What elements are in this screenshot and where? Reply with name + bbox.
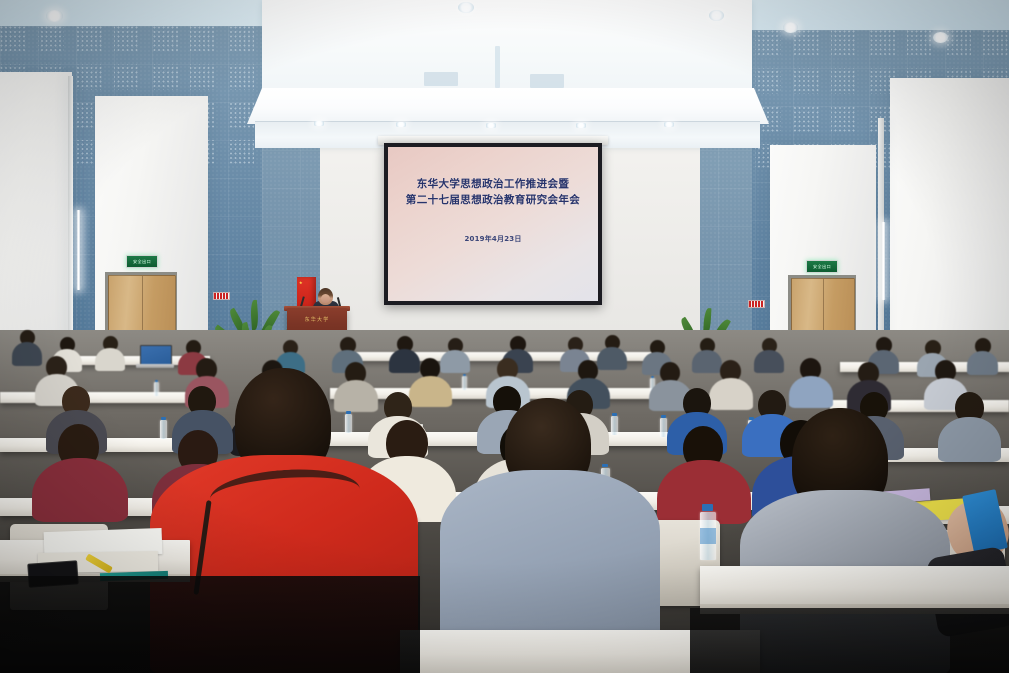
downlight-5 bbox=[933, 32, 948, 43]
ceiling-vent-a bbox=[424, 72, 458, 86]
ceiling-conduit bbox=[495, 46, 500, 88]
exit-sign-left-label: 安全出口 bbox=[133, 259, 151, 265]
water-bottle bbox=[660, 418, 667, 437]
water-bottle bbox=[611, 416, 618, 435]
person-torso bbox=[709, 378, 753, 410]
conference-hall-photo: 安全出口 安全出口 东华大学思想政治工作推进会暨 第二十七届思想政治教育研究会年… bbox=[0, 0, 1009, 673]
water-bottle-cap bbox=[161, 417, 166, 420]
laptop-base bbox=[136, 364, 174, 368]
podium-engraving: 东华大学 bbox=[287, 316, 347, 323]
downlight-10 bbox=[664, 122, 674, 127]
downlight-1 bbox=[46, 10, 63, 22]
person-torso bbox=[389, 349, 420, 373]
water-bottle-cap bbox=[463, 374, 466, 376]
person-torso bbox=[409, 376, 452, 407]
slide-title-line-2: 第二十七届思想政治教育研究会年会 bbox=[388, 192, 598, 208]
wall-strip-light-left bbox=[76, 210, 81, 290]
exit-sign-left: 安全出口 bbox=[126, 255, 158, 268]
white-wall-panel-left-outer bbox=[0, 72, 72, 362]
person-torso bbox=[692, 350, 722, 373]
laptop-screen bbox=[140, 345, 172, 366]
person-torso bbox=[938, 417, 1001, 462]
water-bottle bbox=[160, 420, 167, 439]
downlight-6 bbox=[314, 121, 324, 126]
person-torso bbox=[95, 348, 125, 371]
projection-screen: 东华大学思想政治工作推进会暨 第二十七届思想政治教育研究会年会 2019年4月2… bbox=[384, 143, 602, 305]
downlight-3 bbox=[709, 10, 724, 21]
projection-screen-surface: 东华大学思想政治工作推进会暨 第二十七届思想政治教育研究会年会 2019年4月2… bbox=[388, 147, 598, 301]
under-table-shadow-right bbox=[690, 608, 1009, 673]
downlight-4 bbox=[783, 22, 798, 33]
person-torso bbox=[334, 380, 378, 412]
slide-title: 东华大学思想政治工作推进会暨 第二十七届思想政治教育研究会年会 bbox=[388, 176, 598, 209]
water-bottle-cap bbox=[602, 464, 608, 467]
under-table-shadow bbox=[0, 576, 420, 673]
speaker-face bbox=[321, 294, 330, 303]
water-bottle bbox=[154, 382, 159, 396]
wall-strip-light-right bbox=[881, 222, 886, 300]
downlight-8 bbox=[486, 123, 496, 128]
exit-sign-right: 安全出口 bbox=[806, 260, 838, 273]
plant-leaf bbox=[250, 300, 259, 330]
fire-alarm-stripe-left bbox=[214, 293, 229, 299]
downlight-2 bbox=[458, 2, 474, 13]
person-torso bbox=[32, 458, 128, 522]
water-bottle-cap bbox=[612, 413, 617, 416]
water-bottle-cap bbox=[661, 415, 666, 418]
water-bottle-cap bbox=[651, 376, 654, 378]
water-bottle-cap bbox=[155, 380, 158, 382]
ceiling-vent-b bbox=[530, 74, 564, 88]
exit-sign-right-label: 安全出口 bbox=[813, 264, 831, 270]
table-foreground-right bbox=[700, 566, 1009, 606]
person-torso bbox=[754, 350, 784, 373]
water-bottle-cap bbox=[346, 411, 351, 414]
person-torso bbox=[597, 347, 627, 370]
downlight-9 bbox=[576, 123, 586, 128]
slide-date: 2019年4月23日 bbox=[464, 234, 521, 244]
fire-alarm-stripe-right bbox=[749, 301, 764, 307]
stage-soffit-face bbox=[247, 88, 769, 124]
downlight-7 bbox=[396, 122, 406, 127]
slide-title-line-1: 东华大学思想政治工作推进会暨 bbox=[388, 176, 598, 192]
person-torso bbox=[12, 342, 42, 366]
white-wall-panel-left-a bbox=[68, 76, 73, 361]
water-bottle bbox=[345, 414, 352, 433]
water-bottle bbox=[462, 376, 467, 390]
person-torso bbox=[967, 351, 998, 375]
fire-alarm-sign-left bbox=[213, 292, 230, 300]
water-bottle-cap bbox=[702, 504, 713, 511]
person-torso bbox=[789, 376, 833, 408]
white-wall-panel-right-outer bbox=[890, 78, 1009, 368]
person-torso bbox=[440, 350, 470, 373]
table-row-2-left bbox=[0, 392, 200, 403]
fire-alarm-sign-right bbox=[748, 300, 765, 308]
water-bottle-label bbox=[700, 528, 716, 544]
